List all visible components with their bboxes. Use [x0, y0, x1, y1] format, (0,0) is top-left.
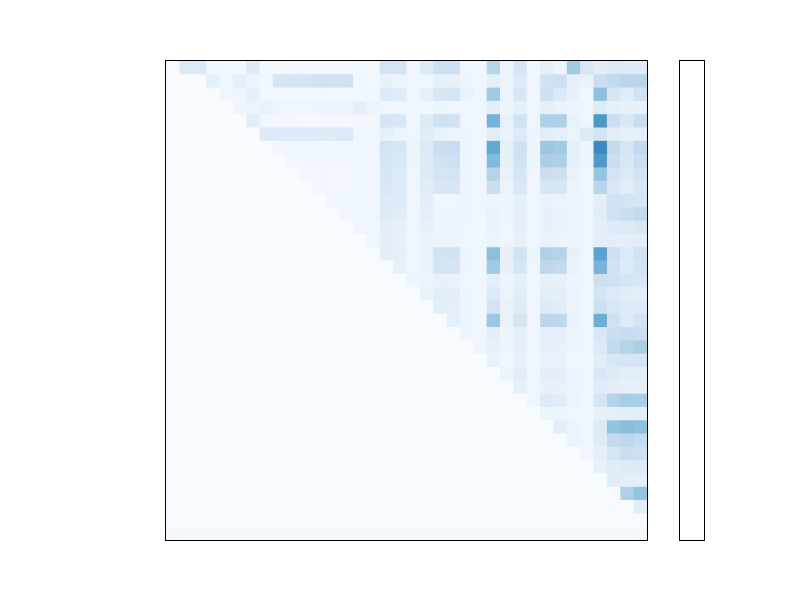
- heatmap-cell: [607, 487, 621, 501]
- heatmap-cell: [300, 407, 314, 421]
- heatmap-cell: [313, 234, 327, 248]
- heatmap-cell: [166, 327, 180, 341]
- heatmap-cell: [166, 513, 180, 527]
- heatmap-cell: [594, 314, 608, 328]
- heatmap-cell: [393, 407, 407, 421]
- heatmap-cell: [260, 181, 274, 195]
- heatmap-cell: [340, 101, 354, 115]
- heatmap-cell: [620, 500, 634, 514]
- heatmap-cell: [607, 207, 621, 221]
- heatmap-cell: [300, 207, 314, 221]
- heatmap-cell: [567, 460, 581, 474]
- heatmap-cell: [393, 473, 407, 487]
- heatmap-cell: [313, 394, 327, 408]
- heatmap-cell: [273, 434, 287, 448]
- heatmap-cell: [246, 327, 260, 341]
- heatmap-cell: [487, 367, 501, 381]
- heatmap-cell: [420, 154, 434, 168]
- heatmap-cell: [540, 154, 554, 168]
- heatmap-cell: [273, 314, 287, 328]
- heatmap-cell: [487, 88, 501, 102]
- heatmap-cell: [460, 513, 474, 527]
- heatmap-cell: [326, 207, 340, 221]
- heatmap-cell: [634, 167, 647, 181]
- heatmap-cell: [460, 473, 474, 487]
- heatmap-cell: [193, 221, 207, 235]
- heatmap-cell: [407, 261, 421, 275]
- heatmap-cell: [527, 460, 541, 474]
- heatmap-cell: [527, 513, 541, 527]
- heatmap-cell: [273, 114, 287, 128]
- heatmap-cell: [353, 194, 367, 208]
- heatmap-cell: [233, 301, 247, 315]
- heatmap-cell: [366, 141, 380, 155]
- heatmap-cell: [273, 61, 287, 75]
- heatmap-cell: [353, 301, 367, 315]
- heatmap-cell: [567, 247, 581, 261]
- heatmap-cell: [313, 513, 327, 527]
- heatmap-cell: [219, 500, 233, 514]
- heatmap-cell: [447, 141, 461, 155]
- heatmap-cell: [607, 234, 621, 248]
- heatmap-cell: [246, 101, 260, 115]
- heatmap-cell: [500, 101, 514, 115]
- heatmap-cell: [233, 181, 247, 195]
- heatmap-cell: [206, 447, 220, 461]
- heatmap-cell: [580, 114, 594, 128]
- heatmap-cell: [179, 154, 193, 168]
- heatmap-cell: [513, 61, 527, 75]
- heatmap-cell: [540, 380, 554, 394]
- heatmap-cell: [634, 301, 647, 315]
- heatmap-cell: [260, 394, 274, 408]
- heatmap-cell: [273, 394, 287, 408]
- heatmap-cell: [300, 274, 314, 288]
- heatmap-cell: [487, 354, 501, 368]
- heatmap-cell: [353, 314, 367, 328]
- heatmap-cell: [433, 167, 447, 181]
- heatmap-cell: [313, 367, 327, 381]
- heatmap-cell: [313, 88, 327, 102]
- heatmap-cell: [353, 460, 367, 474]
- heatmap-cell: [233, 101, 247, 115]
- heatmap-cell: [313, 407, 327, 421]
- heatmap-cell: [527, 354, 541, 368]
- heatmap-cell: [219, 287, 233, 301]
- heatmap-cell: [353, 287, 367, 301]
- heatmap-cell: [487, 314, 501, 328]
- heatmap-cell: [340, 354, 354, 368]
- heatmap-cell: [313, 287, 327, 301]
- heatmap-cell: [487, 434, 501, 448]
- heatmap-cell: [313, 327, 327, 341]
- heatmap-cell: [460, 447, 474, 461]
- heatmap-cell: [620, 274, 634, 288]
- heatmap-cell: [433, 194, 447, 208]
- heatmap-cell: [300, 340, 314, 354]
- heatmap-cell: [393, 74, 407, 88]
- heatmap-cell: [193, 487, 207, 501]
- heatmap-cell: [634, 114, 647, 128]
- heatmap-cell: [393, 167, 407, 181]
- colorbar[interactable]: [679, 60, 705, 541]
- heatmap-cell: [326, 473, 340, 487]
- heatmap-cell: [407, 274, 421, 288]
- heatmap-cell: [540, 434, 554, 448]
- heatmap-cell: [193, 194, 207, 208]
- heatmap-cell: [567, 327, 581, 341]
- heatmap-cell: [233, 74, 247, 88]
- heatmap-cell: [594, 167, 608, 181]
- heatmap-cell: [393, 500, 407, 514]
- heatmap-cell: [179, 101, 193, 115]
- heatmap-cell: [206, 167, 220, 181]
- heatmap-cell: [473, 167, 487, 181]
- heatmap-cell: [340, 261, 354, 275]
- heatmap-cell: [607, 101, 621, 115]
- heatmap-cell: [300, 101, 314, 115]
- heatmap-cell: [326, 181, 340, 195]
- heatmap-cell: [193, 234, 207, 248]
- heatmap-cell: [594, 154, 608, 168]
- heatmap-cell: [260, 74, 274, 88]
- heatmap-cell: [300, 154, 314, 168]
- heatmap-cell: [634, 234, 647, 248]
- heatmap-cell: [166, 301, 180, 315]
- heatmap-cell: [487, 327, 501, 341]
- heatmap-cell: [219, 327, 233, 341]
- heatmap-cell: [567, 88, 581, 102]
- heatmap-cell: [473, 394, 487, 408]
- heatmap-cell: [393, 101, 407, 115]
- heatmap-cell: [513, 354, 527, 368]
- heatmap-cell: [580, 101, 594, 115]
- heatmap-cell: [300, 88, 314, 102]
- heatmap-cell: [326, 434, 340, 448]
- heatmap-cell: [580, 181, 594, 195]
- heatmap-cell: [407, 181, 421, 195]
- heatmap-cell: [393, 114, 407, 128]
- heatmap-cell: [460, 301, 474, 315]
- heatmap-cell: [340, 460, 354, 474]
- heatmap-cell: [260, 207, 274, 221]
- heatmap-cell: [447, 301, 461, 315]
- heatmap-cell: [380, 181, 394, 195]
- heatmap-cell: [233, 128, 247, 142]
- heatmap-cell: [193, 420, 207, 434]
- heatmap-cell: [393, 234, 407, 248]
- heatmap-cell: [313, 247, 327, 261]
- heatmap-cell: [580, 354, 594, 368]
- heatmap-cell: [326, 513, 340, 527]
- heatmap-cell: [460, 247, 474, 261]
- heatmap-cell: [567, 221, 581, 235]
- heatmap-cell: [326, 128, 340, 142]
- heatmap-cell: [433, 221, 447, 235]
- heatmap-cell: [273, 207, 287, 221]
- heatmap-cell: [166, 500, 180, 514]
- heatmap-cell: [513, 154, 527, 168]
- heatmap-cell: [513, 301, 527, 315]
- heatmap-cell: [206, 101, 220, 115]
- heatmap-cell: [513, 247, 527, 261]
- heatmap-cell: [300, 194, 314, 208]
- heatmap-cell: [634, 420, 647, 434]
- heatmap-cell: [540, 61, 554, 75]
- heatmap-cell: [540, 473, 554, 487]
- heatmap-cell: [353, 394, 367, 408]
- heatmap-cell: [487, 420, 501, 434]
- heatmap-cell: [527, 247, 541, 261]
- heatmap-cell: [179, 167, 193, 181]
- heatmap-cell: [273, 247, 287, 261]
- heatmap-cell: [540, 287, 554, 301]
- heatmap-cell: [487, 473, 501, 487]
- heatmap-cell: [580, 88, 594, 102]
- heatmap-cell: [527, 234, 541, 248]
- heatmap-cell: [540, 74, 554, 88]
- heatmap-cell: [246, 247, 260, 261]
- heatmap-cell: [473, 420, 487, 434]
- heatmap-cell: [580, 247, 594, 261]
- heatmap-cell: [233, 221, 247, 235]
- heatmap-cell: [473, 128, 487, 142]
- heatmap-cell: [594, 74, 608, 88]
- heatmap-cell: [634, 473, 647, 487]
- heatmap-cell: [273, 274, 287, 288]
- heatmap-cell: [500, 207, 514, 221]
- heatmap-cell: [473, 447, 487, 461]
- heatmap-cell: [246, 261, 260, 275]
- heatmap-cell: [219, 274, 233, 288]
- heatmap-cell: [286, 128, 300, 142]
- heatmap-cell: [433, 327, 447, 341]
- heatmap-cell: [620, 473, 634, 487]
- heatmap-cell: [166, 287, 180, 301]
- heatmap-cell: [433, 88, 447, 102]
- heatmap-cell: [567, 487, 581, 501]
- heatmap-cell: [420, 407, 434, 421]
- heatmap-cell: [286, 367, 300, 381]
- figure-canvas: [0, 0, 800, 600]
- heatmap-cell: [594, 101, 608, 115]
- heatmap-cell: [527, 407, 541, 421]
- heatmap-cell: [540, 247, 554, 261]
- heatmap-cell: [206, 301, 220, 315]
- heatmap-cell: [580, 407, 594, 421]
- heatmap-cell: [567, 473, 581, 487]
- heatmap-cell: [179, 354, 193, 368]
- heatmap-cell: [580, 460, 594, 474]
- heatmap-cell: [567, 301, 581, 315]
- heatmap-cell: [500, 434, 514, 448]
- heatmap-cell: [513, 340, 527, 354]
- heatmap-cell: [219, 420, 233, 434]
- heatmap-cell: [407, 167, 421, 181]
- heatmap-cell: [246, 114, 260, 128]
- heatmap-cell: [246, 221, 260, 235]
- heatmap-cell: [487, 407, 501, 421]
- heatmap-cell: [607, 141, 621, 155]
- heatmap-cell: [246, 274, 260, 288]
- heatmap-cell: [166, 61, 180, 75]
- heatmap-cell: [366, 380, 380, 394]
- heatmap-cell: [166, 354, 180, 368]
- heatmap-cell: [487, 74, 501, 88]
- heatmap-cell: [594, 61, 608, 75]
- heatmap-cell: [219, 314, 233, 328]
- heatmap-cell: [527, 473, 541, 487]
- heatmap-cell: [634, 128, 647, 142]
- heatmap-cell: [620, 367, 634, 381]
- heatmap-cell: [607, 167, 621, 181]
- heatmap-cell: [567, 500, 581, 514]
- heatmap-cell: [246, 420, 260, 434]
- heatmap-cell: [460, 194, 474, 208]
- heatmap-cell: [620, 114, 634, 128]
- heatmap-cell: [433, 394, 447, 408]
- heatmap-cell: [313, 460, 327, 474]
- heatmap-cell: [473, 207, 487, 221]
- heatmap-cell: [580, 154, 594, 168]
- heatmap-cell: [206, 407, 220, 421]
- heatmap-cell: [553, 128, 567, 142]
- heatmap-cell: [326, 420, 340, 434]
- heatmap-cell: [433, 340, 447, 354]
- heatmap-cell: [540, 234, 554, 248]
- heatmap-cell: [607, 114, 621, 128]
- heatmap-cell: [166, 274, 180, 288]
- heatmap-cells[interactable]: [166, 61, 647, 540]
- heatmap-cell: [326, 407, 340, 421]
- heatmap-cell: [553, 460, 567, 474]
- heatmap-cell: [206, 261, 220, 275]
- heatmap-cell: [594, 234, 608, 248]
- heatmap-cell: [353, 407, 367, 421]
- heatmap-cell: [353, 234, 367, 248]
- heatmap-cell: [553, 207, 567, 221]
- heatmap-cell: [487, 460, 501, 474]
- heatmap-cell: [460, 181, 474, 195]
- heatmap-cell: [567, 340, 581, 354]
- heatmap-cell: [527, 394, 541, 408]
- heatmap-cell: [300, 354, 314, 368]
- heatmap-cell: [166, 101, 180, 115]
- heatmap-cell: [473, 434, 487, 448]
- heatmap-cell: [553, 167, 567, 181]
- heatmap-cell: [607, 221, 621, 235]
- heatmap-cell: [407, 327, 421, 341]
- heatmap-cell: [500, 274, 514, 288]
- heatmap-cell: [260, 287, 274, 301]
- heatmap-cell: [246, 314, 260, 328]
- heatmap-cell: [326, 247, 340, 261]
- heatmap-cell: [447, 327, 461, 341]
- heatmap-cell: [447, 287, 461, 301]
- heatmap-cell: [567, 434, 581, 448]
- heatmap-cell: [580, 447, 594, 461]
- heatmap-cell: [286, 167, 300, 181]
- heatmap-cell: [326, 314, 340, 328]
- heatmap-cell: [206, 460, 220, 474]
- heatmap-cell: [500, 460, 514, 474]
- heatmap-cell: [447, 274, 461, 288]
- heatmap-cell: [380, 88, 394, 102]
- heatmap-cell: [380, 221, 394, 235]
- heatmap-cell: [473, 473, 487, 487]
- heatmap-cell: [634, 460, 647, 474]
- heatmap-cell: [473, 154, 487, 168]
- heatmap-cell: [179, 194, 193, 208]
- heatmap-cell: [540, 447, 554, 461]
- heatmap-cell: [460, 207, 474, 221]
- heatmap-cell: [407, 513, 421, 527]
- heatmap-cell: [433, 513, 447, 527]
- heatmap-cell: [193, 327, 207, 341]
- heatmap-cell: [366, 181, 380, 195]
- heatmap-cell: [353, 221, 367, 235]
- heatmap-cell: [553, 221, 567, 235]
- heatmap-cell: [513, 261, 527, 275]
- heatmap-cell: [420, 167, 434, 181]
- heatmap-cell: [313, 154, 327, 168]
- heatmap-cell: [260, 128, 274, 142]
- heatmap-cell: [513, 434, 527, 448]
- heatmap-cell: [166, 154, 180, 168]
- heatmap-cell: [553, 420, 567, 434]
- heatmap-cell: [273, 367, 287, 381]
- heatmap-cell: [513, 420, 527, 434]
- heatmap-cell: [513, 234, 527, 248]
- heatmap-cell: [393, 447, 407, 461]
- heatmap-cell: [166, 380, 180, 394]
- heatmap-cell: [179, 513, 193, 527]
- heatmap-cell: [553, 447, 567, 461]
- heatmap-cell: [313, 114, 327, 128]
- heatmap-cell: [553, 500, 567, 514]
- heatmap-cell: [273, 354, 287, 368]
- heatmap-cell: [420, 181, 434, 195]
- heatmap-cell: [286, 500, 300, 514]
- heatmap-cell: [513, 473, 527, 487]
- heatmap-cell: [553, 194, 567, 208]
- heatmap-cell: [393, 367, 407, 381]
- heatmap-cell: [260, 380, 274, 394]
- heatmap-cell: [193, 114, 207, 128]
- heatmap-cell: [326, 394, 340, 408]
- colorbar-gradient-box: [679, 60, 705, 541]
- heatmap-cell: [326, 460, 340, 474]
- heatmap-axes[interactable]: [165, 60, 648, 541]
- heatmap-cell: [447, 74, 461, 88]
- heatmap-cell: [340, 434, 354, 448]
- heatmap-cell: [540, 114, 554, 128]
- heatmap-cell: [313, 221, 327, 235]
- heatmap-cell: [433, 367, 447, 381]
- heatmap-cell: [233, 434, 247, 448]
- heatmap-cell: [286, 487, 300, 501]
- heatmap-cell: [286, 327, 300, 341]
- heatmap-cell: [620, 460, 634, 474]
- heatmap-cell: [513, 221, 527, 235]
- heatmap-cell: [513, 314, 527, 328]
- heatmap-cell: [460, 88, 474, 102]
- heatmap-cell: [487, 301, 501, 315]
- heatmap-cell: [326, 261, 340, 275]
- heatmap-cell: [553, 141, 567, 155]
- heatmap-cell: [300, 500, 314, 514]
- heatmap-cell: [393, 287, 407, 301]
